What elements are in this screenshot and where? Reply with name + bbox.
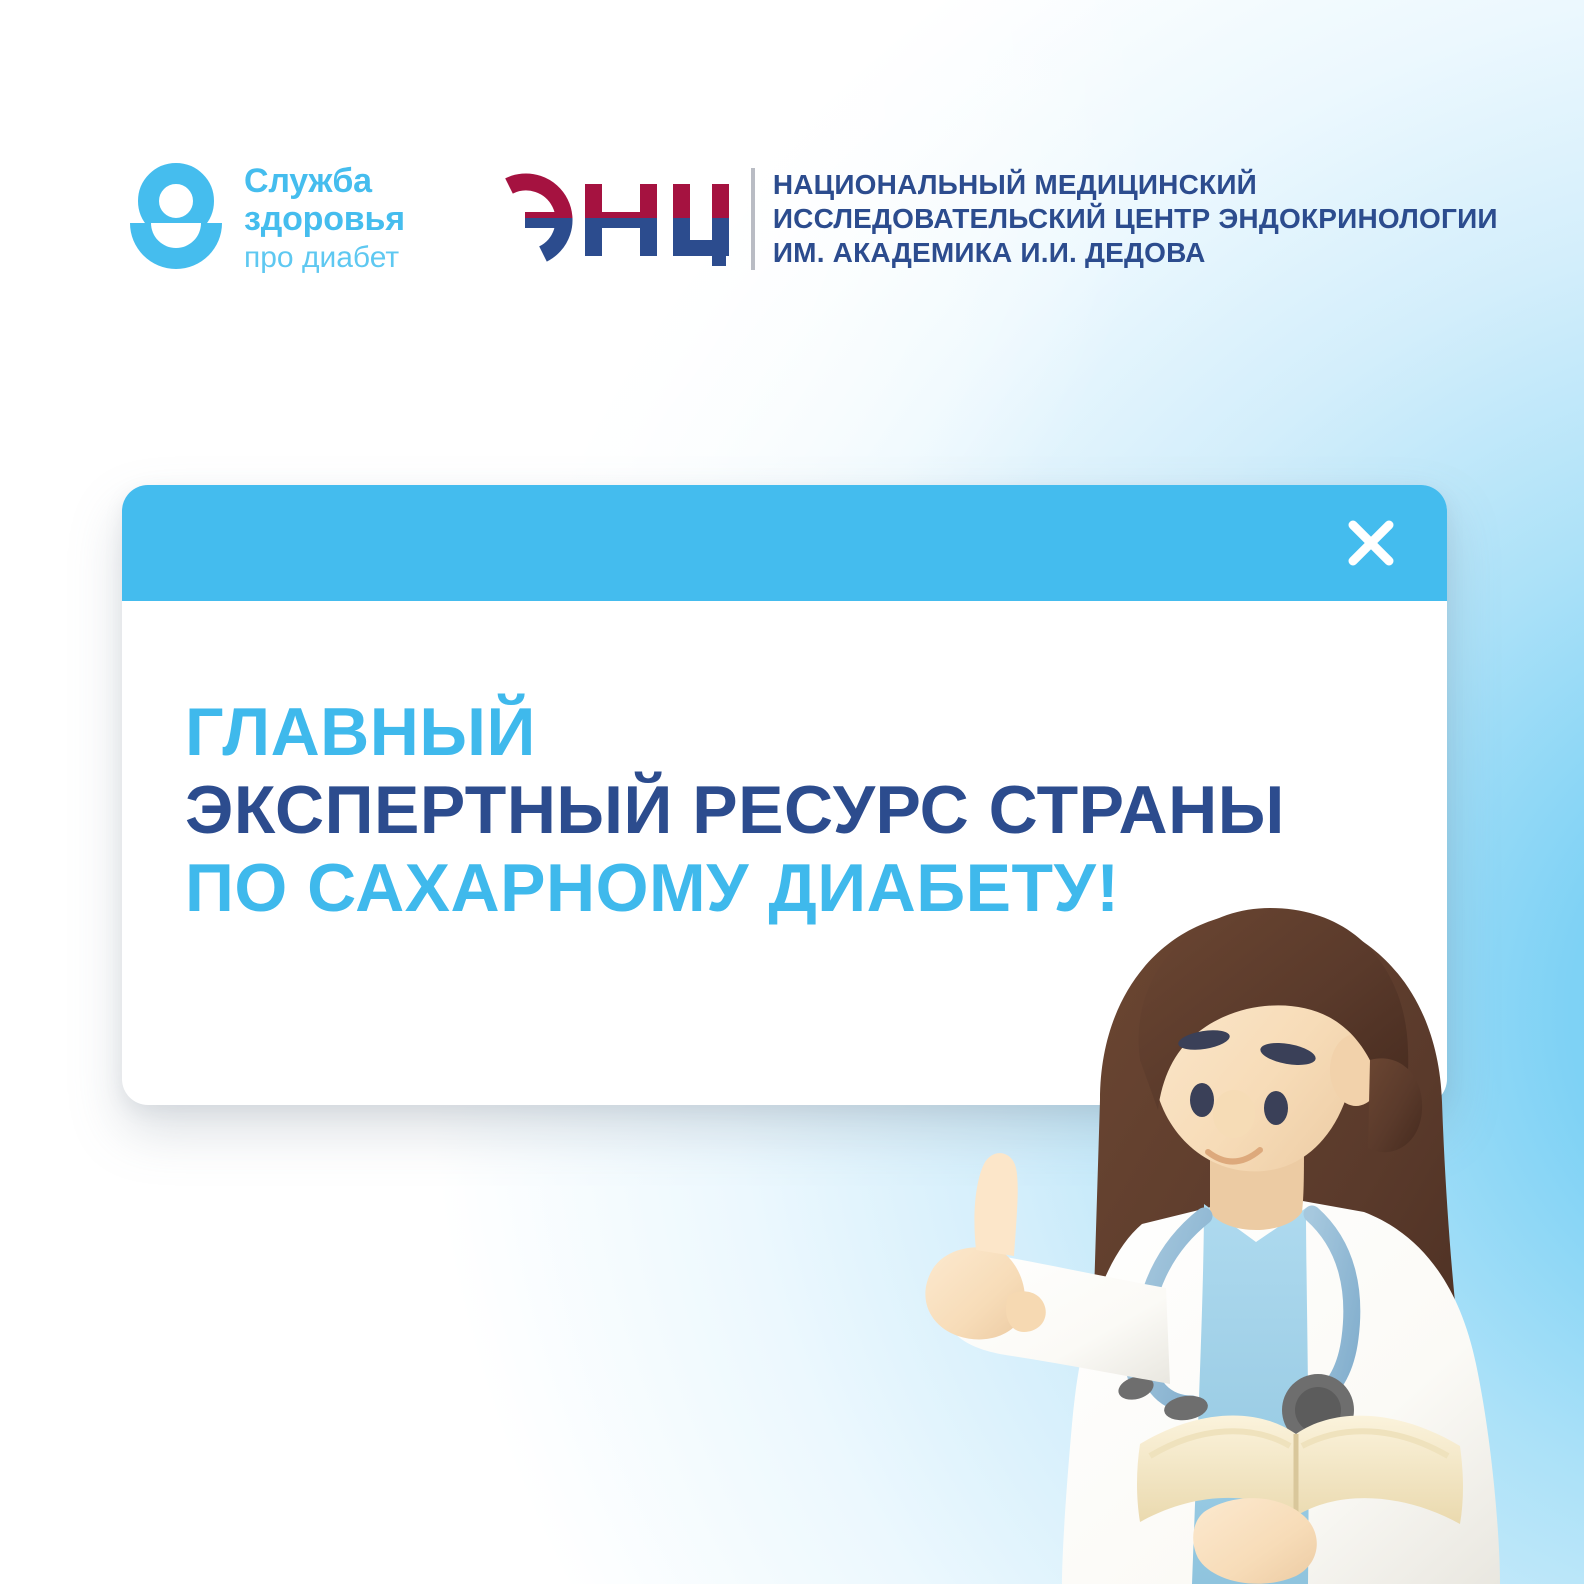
poster-canvas: Служба здоровья про диабет — [0, 0, 1584, 1584]
close-x-icon — [1344, 516, 1398, 570]
health-service-circle-smile-logo-icon — [130, 163, 222, 273]
message-card: ГЛАВНЫЙ ЭКСПЕРТНЫЙ РЕСУРС СТРАНЫ ПО САХА… — [122, 485, 1447, 1105]
headline-line-3: ПО САХАРНОМУ ДИАБЕТУ! — [185, 849, 1447, 927]
enc-organization-name: НАЦИОНАЛЬНЫЙ МЕДИЦИНСКИЙ ИССЛЕДОВАТЕЛЬСК… — [773, 166, 1498, 274]
headline-line-1: ГЛАВНЫЙ — [185, 693, 1447, 771]
logo-line-1: Служба — [244, 162, 405, 200]
enc-name-line-2: ИССЛЕДОВАТЕЛЬСКИЙ ЦЕНТР ЭНДОКРИНОЛОГИИ — [773, 202, 1498, 236]
logo-subtitle: про диабет — [244, 240, 405, 276]
logo-bar: Служба здоровья про диабет — [130, 160, 1498, 276]
health-service-logo-text: Служба здоровья про диабет — [244, 160, 405, 276]
endocrinology-center-logo[interactable]: НАЦИОНАЛЬНЫЙ МЕДИЦИНСКИЙ ИССЛЕДОВАТЕЛЬСК… — [501, 160, 1498, 274]
logo-line-2: здоровья — [244, 200, 405, 238]
card-header — [122, 485, 1447, 601]
enc-name-line-1: НАЦИОНАЛЬНЫЙ МЕДИЦИНСКИЙ — [773, 168, 1498, 202]
enc-name-line-3: ИМ. АКАДЕМИКА И.И. ДЕДОВА — [773, 236, 1498, 270]
enc-abbreviation-icon — [501, 166, 729, 274]
close-button[interactable] — [1341, 513, 1401, 573]
headline-line-2: ЭКСПЕРТНЫЙ РЕСУРС СТРАНЫ — [185, 771, 1447, 849]
logo-divider — [751, 168, 755, 270]
card-body: ГЛАВНЫЙ ЭКСПЕРТНЫЙ РЕСУРС СТРАНЫ ПО САХА… — [122, 601, 1447, 927]
health-service-logo[interactable]: Служба здоровья про диабет — [130, 160, 405, 276]
